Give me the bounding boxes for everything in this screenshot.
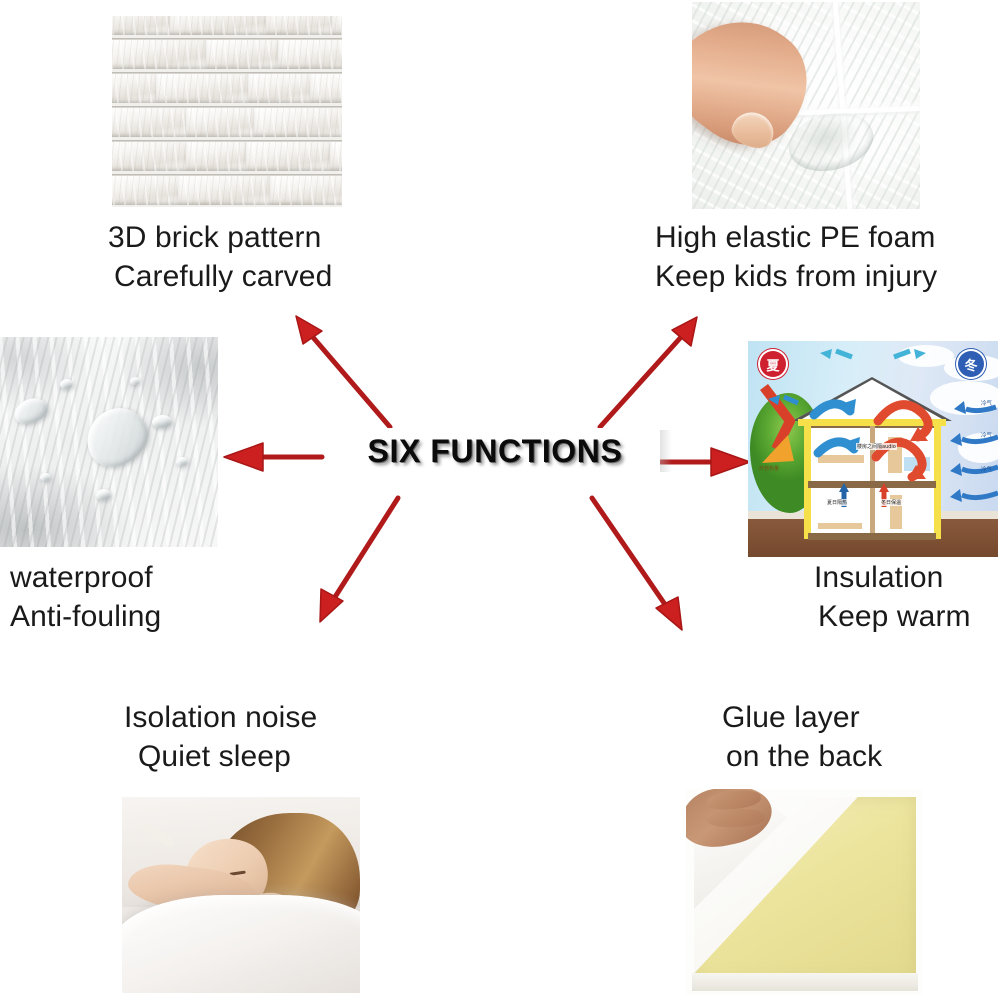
caption-noise-line2: Quiet sleep [124,737,317,776]
cold-wind-arrowhead [950,463,962,476]
caption-noise: Isolation noise Quiet sleep [124,698,317,776]
cold-wind-arrowhead [954,401,966,414]
infographic-canvas: SIX FUNCTIONS [0,0,1000,1000]
room-label-3: 冬日保温 [880,499,902,506]
house-insulation-diagram: 夏 冬 [748,341,998,557]
caption-glue-line1: Glue layer [722,698,882,737]
caption-glue-line2: on the back [722,737,882,776]
caption-foam: High elastic PE foam Keep kids from inju… [655,218,937,296]
outer-heat-label: 外部热量 [758,465,780,472]
arrow-to-insulation [660,448,750,476]
room-label-2: 夏日隔热 [826,499,848,506]
caption-brick-line1: 3D brick pattern [108,218,332,257]
caption-brick-line2: Carefully carved [108,257,332,296]
caption-insulation-line1: Insulation [814,558,971,597]
roof-vent-arrowhead [914,349,926,359]
arrow-to-glue [592,498,682,630]
cold-air-label-2: 冷气 [981,431,992,439]
caption-glue: Glue layer on the back [722,698,882,776]
roof-vent-arrowhead [820,349,832,359]
cold-air-label-3: 冷气 [981,465,992,473]
cool-air-arrow [818,442,854,453]
white-3d-brick-panel-photo [112,4,342,207]
peeling-adhesive-backing-photo [686,789,922,995]
roof-vent-arrow [894,351,910,357]
finger-pressing-pe-foam-photo [692,2,920,209]
cold-wind-arrowhead [950,489,962,502]
brick-texture [112,4,342,207]
panel-edge [692,973,918,991]
cold-air-label-1: 冷气 [981,399,992,407]
caption-waterproof-line2: Anti-fouling [10,597,161,636]
arrow-to-brick [296,316,390,427]
center-title-badge: SIX FUNCTIONS [330,428,660,474]
roof-vent-arrow [836,351,852,357]
woman-sleeping-in-bed-photo [122,797,360,993]
caption-noise-line1: Isolation noise [124,698,317,737]
shade-arrow [784,397,798,403]
pillow [122,895,360,993]
page-title: SIX FUNCTIONS [368,433,623,470]
caption-foam-line2: Keep kids from injury [655,257,937,296]
brick-top-edge [112,4,342,16]
cold-wind-wave [962,493,998,498]
arrow-to-foam [600,317,697,427]
floor-cool-arrowhead [839,483,849,492]
water-droplets-on-surface-photo [0,337,218,547]
cool-air-arrow [814,404,850,415]
caption-insulation: Insulation Keep warm [814,558,971,636]
floor-heat-arrowhead [879,483,889,492]
finger [706,808,765,828]
cold-wind-wave [966,407,996,411]
arrow-to-noise [320,498,398,622]
room-label-1: 楼房之间隔audio [856,443,897,450]
caption-waterproof-line1: waterproof [10,558,161,597]
arrow-to-waterproof [224,443,322,471]
caption-brick: 3D brick pattern Carefully carved [108,218,332,296]
caption-foam-line1: High elastic PE foam [655,218,937,257]
caption-waterproof: waterproof Anti-fouling [10,558,161,636]
caption-insulation-line2: Keep warm [814,597,971,636]
cold-wind-arrowhead [950,433,962,446]
